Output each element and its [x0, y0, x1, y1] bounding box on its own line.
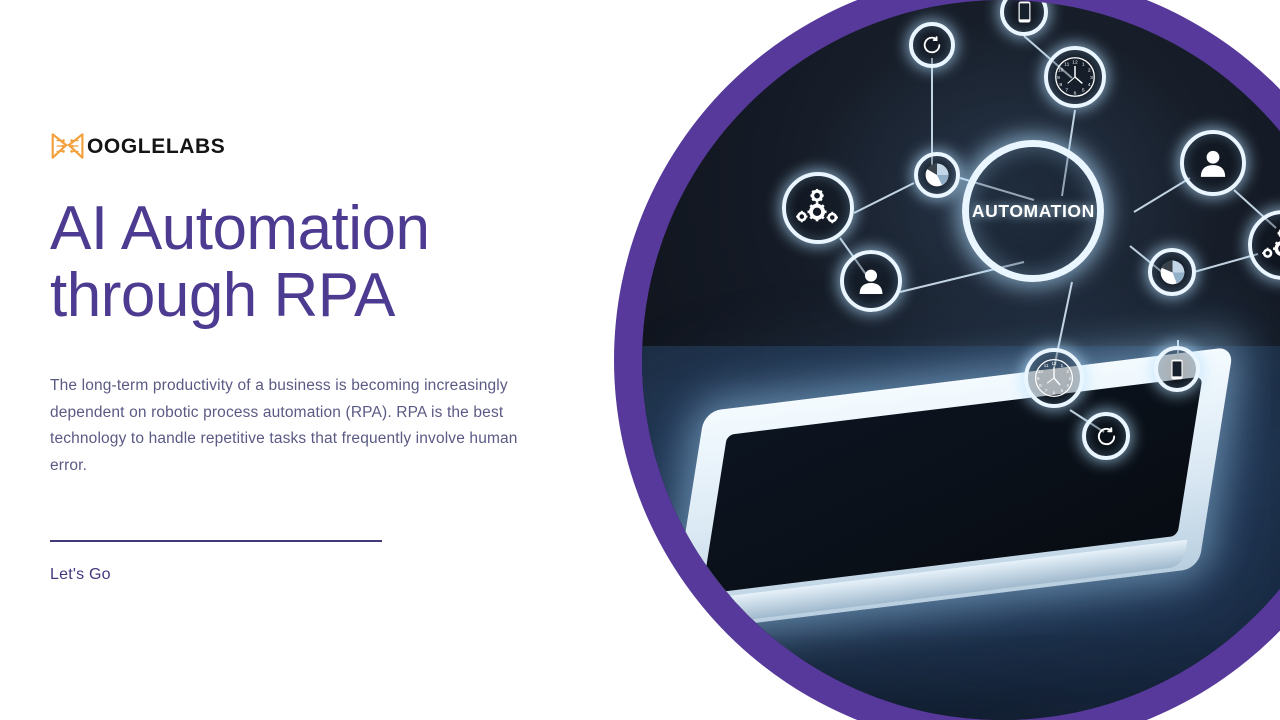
center-node-label: AUTOMATION	[972, 201, 1095, 222]
node-smartphone-top	[1000, 0, 1048, 36]
smartphone-icon	[1171, 359, 1183, 380]
node-clock-bottom: 121 23 45 67 89 1011	[1024, 348, 1084, 408]
svg-text:2: 2	[1088, 68, 1091, 74]
svg-text:6: 6	[1053, 391, 1056, 396]
svg-text:3: 3	[1090, 75, 1093, 81]
svg-text:8: 8	[1059, 82, 1062, 88]
svg-text:10: 10	[1058, 68, 1064, 74]
gears-icon	[1261, 226, 1280, 264]
photo-ambient-glow	[786, 14, 1232, 388]
automation-network	[642, 0, 1280, 720]
hero-image-panel: AUTOMATION	[614, 0, 1280, 720]
svg-text:11: 11	[1044, 363, 1049, 368]
svg-text:10: 10	[1038, 369, 1044, 374]
svg-text:4: 4	[1066, 383, 1069, 388]
svg-text:9: 9	[1057, 75, 1060, 81]
lets-go-button[interactable]: Let's Go	[50, 566, 111, 584]
svg-text:9: 9	[1037, 376, 1040, 381]
photo-tablet	[670, 346, 1234, 633]
brand-lockup: OOGLELABS	[50, 131, 225, 161]
svg-text:7: 7	[1065, 88, 1068, 94]
svg-text:5: 5	[1061, 388, 1064, 393]
photo-desk-surface	[642, 346, 1280, 720]
intro-paragraph: The long-term productivity of a business…	[50, 373, 555, 480]
smartphone-icon	[1018, 1, 1031, 23]
svg-text:2: 2	[1066, 369, 1069, 374]
node-gears-right	[1248, 210, 1280, 280]
person-icon	[1197, 147, 1229, 179]
svg-text:3: 3	[1068, 376, 1071, 381]
svg-text:12: 12	[1072, 59, 1078, 65]
clock-icon: 121 23 45 67 89 1011	[1053, 55, 1097, 99]
oogle-bowtie-logo-icon	[50, 131, 86, 161]
gears-icon	[795, 188, 841, 228]
svg-text:6: 6	[1074, 90, 1077, 96]
refresh-sync-icon	[1095, 425, 1118, 448]
svg-text:11: 11	[1064, 62, 1069, 68]
node-person-lower-left	[840, 250, 902, 312]
person-icon	[856, 266, 886, 296]
pie-chart-icon	[1159, 259, 1186, 286]
svg-text:8: 8	[1039, 383, 1042, 388]
node-refresh-sync-bottom	[1082, 412, 1130, 460]
node-gears-left	[782, 172, 854, 244]
svg-text:7: 7	[1045, 388, 1048, 393]
hero-photo: AUTOMATION	[642, 0, 1280, 720]
svg-text:1: 1	[1061, 363, 1064, 368]
center-node-automation: AUTOMATION	[962, 140, 1104, 282]
clock-icon: 121 23 45 67 89 1011	[1033, 357, 1075, 399]
node-pie-chart-right	[1148, 248, 1196, 296]
svg-text:1: 1	[1082, 62, 1085, 68]
pie-chart-icon	[924, 162, 950, 188]
node-refresh-sync-top-left	[909, 22, 955, 68]
node-pie-chart-left	[914, 152, 960, 198]
page-title: AI Automation through RPA	[50, 196, 570, 330]
content-pane: OOGLELABS AI Automation through RPA The …	[0, 0, 620, 720]
node-smartphone-lower-right	[1154, 346, 1200, 392]
svg-text:4: 4	[1088, 82, 1091, 88]
node-clock-top: 121 23 45 67 89 1011	[1044, 46, 1106, 108]
svg-text:5: 5	[1082, 88, 1085, 94]
svg-text:12: 12	[1051, 361, 1057, 366]
hero-purple-ring	[614, 0, 1280, 720]
divider	[50, 540, 382, 542]
brand-name: OOGLELABS	[87, 136, 225, 157]
refresh-sync-icon	[921, 34, 943, 56]
node-person-right	[1180, 130, 1246, 196]
slide-canvas: AUTOMATION	[0, 0, 1280, 720]
